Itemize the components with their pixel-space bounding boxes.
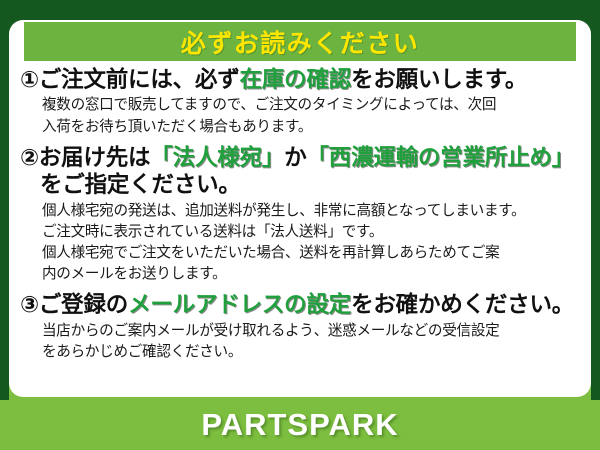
notice-banner: 必ずお読みください — [24, 22, 576, 61]
notice-body-line: 内のメールをお送りします。 — [42, 264, 583, 285]
notice-body-line: ご注文時に表示されている送料は「法人送料」です。 — [42, 222, 583, 243]
notice-item-heading: ③ご登録のメールアドレスの設定をお確かめください。 — [9, 291, 591, 318]
notice-heading-line2: をご指定ください。 — [20, 171, 585, 198]
notice-item-list: ①ご注文前には、必ず在庫の確認をお願いします。複数の窓口で販売してますので、ご注… — [9, 66, 591, 369]
notice-body-line: 個人様宅宛でご注文をいただいた場合、送料を再計算しあらためてご案 — [42, 243, 583, 264]
notice-body-line: 入荷をお待ち頂いただく場合もあります。 — [42, 117, 583, 138]
notice-item: ①ご注文前には、必ず在庫の確認をお願いします。複数の窓口で販売してますので、ご注… — [9, 66, 591, 138]
notice-body-line: 当店からのご案内メールが受け取れるよう、迷惑メールなどの受信設定 — [42, 321, 583, 342]
notice-heading-text: をお確かめください。 — [351, 292, 574, 317]
notice-banner-title: 必ずお読みください — [181, 24, 420, 60]
notice-item-heading: ②お届け先は「法人様宛」か「西濃運輸の営業所止め」をご指定ください。 — [9, 144, 591, 199]
notice-item-body: 当店からのご案内メールが受け取れるよう、迷惑メールなどの受信設定をあらかじめご確… — [9, 319, 591, 363]
notice-body-line: をあらかじめご確認ください。 — [42, 342, 583, 363]
frame-right-edge — [591, 0, 600, 400]
frame-top-edge — [0, 0, 600, 20]
notice-highlight-text: 「西濃運輸の営業所止め」 — [307, 145, 575, 170]
notice-item-marker: ② — [20, 145, 39, 170]
notice-poster: 必ずお読みください ①ご注文前には、必ず在庫の確認をお願いします。複数の窓口で販… — [0, 0, 600, 450]
notice-highlight-text: 在庫の確認 — [240, 67, 352, 92]
notice-item-marker: ③ — [20, 292, 39, 317]
notice-highlight-text: 「法人様宛」 — [150, 145, 284, 170]
notice-heading-text: お届け先は — [39, 145, 151, 170]
brand-footer: PARTSPARK — [0, 400, 600, 450]
notice-item-heading: ①ご注文前には、必ず在庫の確認をお願いします。 — [9, 66, 591, 93]
notice-heading-text: ご注文前には、必ず — [39, 67, 240, 92]
notice-body-line: 複数の窓口で販売してますので、ご注文のタイミングによっては、次回 — [42, 95, 583, 116]
notice-heading-text: ご登録の — [39, 292, 128, 317]
notice-item-body: 個人様宅宛の発送は、追加送料が発生し、非常に高額となってしまいます。ご注文時に表… — [9, 199, 591, 286]
notice-heading-text: か — [284, 145, 306, 170]
notice-highlight-text: メールアドレスの設定 — [128, 292, 351, 317]
notice-item: ②お届け先は「法人様宛」か「西濃運輸の営業所止め」をご指定ください。個人様宅宛の… — [9, 144, 591, 286]
notice-heading-text: をお願いします。 — [351, 67, 527, 92]
brand-name: PARTSPARK — [201, 407, 398, 443]
frame-left-edge — [0, 0, 9, 400]
notice-body-line: 個人様宅宛の発送は、追加送料が発生し、非常に高額となってしまいます。 — [42, 201, 583, 222]
notice-item: ③ご登録のメールアドレスの設定をお確かめください。当店からのご案内メールが受け取… — [9, 291, 591, 363]
notice-item-body: 複数の窓口で販売してますので、ご注文のタイミングによっては、次回入荷をお待ち頂い… — [9, 93, 591, 137]
notice-card: 必ずお読みください ①ご注文前には、必ず在庫の確認をお願いします。複数の窓口で販… — [9, 20, 591, 397]
notice-item-marker: ① — [20, 67, 39, 92]
